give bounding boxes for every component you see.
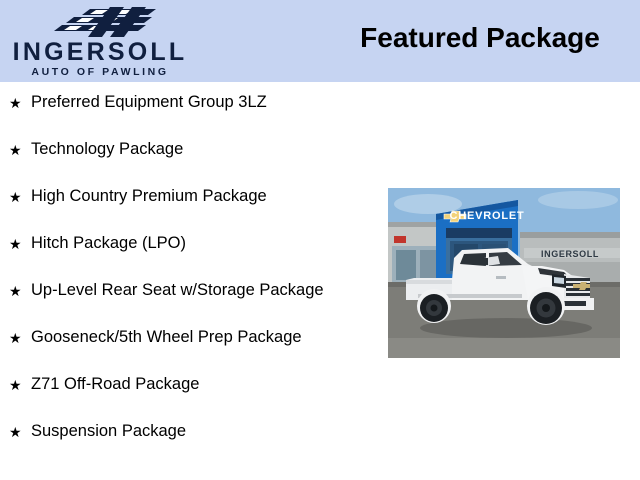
star-bullet-icon: ★ <box>9 278 31 303</box>
brand-wordmark: INGERSOLL <box>0 40 200 65</box>
list-item-label: Up-Level Rear Seat w/Storage Package <box>31 278 372 300</box>
star-bullet-icon: ★ <box>9 90 31 115</box>
star-bullet-icon: ★ <box>9 372 31 397</box>
list-item-label: Gooseneck/5th Wheel Prep Package <box>31 325 372 347</box>
list-item-label: Z71 Off-Road Package <box>31 372 372 394</box>
secondary-sign-text: INGERSOLL <box>541 249 599 259</box>
list-item: ★ Hitch Package (LPO) <box>0 231 372 278</box>
page-header: INGERSOLL AUTO OF PAWLING Featured Packa… <box>0 0 640 82</box>
list-item-label: Technology Package <box>31 137 372 159</box>
page-title: Featured Package <box>330 21 630 55</box>
star-bullet-icon: ★ <box>9 419 31 444</box>
brand-logo[interactable]: INGERSOLL AUTO OF PAWLING <box>0 0 210 82</box>
list-item: ★ High Country Premium Package <box>0 184 372 231</box>
list-item: ★ Up-Level Rear Seat w/Storage Package <box>0 278 372 325</box>
ingersoll-winged-emblem-icon <box>52 6 160 38</box>
star-bullet-icon: ★ <box>9 137 31 162</box>
dealership-sign-text: CHEVROLET <box>449 210 524 222</box>
list-item: ★ Preferred Equipment Group 3LZ <box>0 90 372 137</box>
list-item-label: Suspension Package <box>31 419 372 441</box>
list-item: ★ Technology Package <box>0 137 372 184</box>
list-item-label: Hitch Package (LPO) <box>31 231 372 253</box>
list-item-label: High Country Premium Package <box>31 184 372 206</box>
list-item: ★ Z71 Off-Road Package <box>0 372 372 419</box>
featured-package-list: ★ Preferred Equipment Group 3LZ ★ Techno… <box>0 90 372 466</box>
star-bullet-icon: ★ <box>9 231 31 256</box>
list-item-label: Preferred Equipment Group 3LZ <box>31 90 372 112</box>
list-item: ★ Suspension Package <box>0 419 372 466</box>
list-item: ★ Gooseneck/5th Wheel Prep Package <box>0 325 372 372</box>
vehicle-photo[interactable]: INGERSOLL CHEVROLET <box>388 188 620 358</box>
brand-tagline: AUTO OF PAWLING <box>0 66 200 78</box>
star-bullet-icon: ★ <box>9 184 31 209</box>
star-bullet-icon: ★ <box>9 325 31 350</box>
